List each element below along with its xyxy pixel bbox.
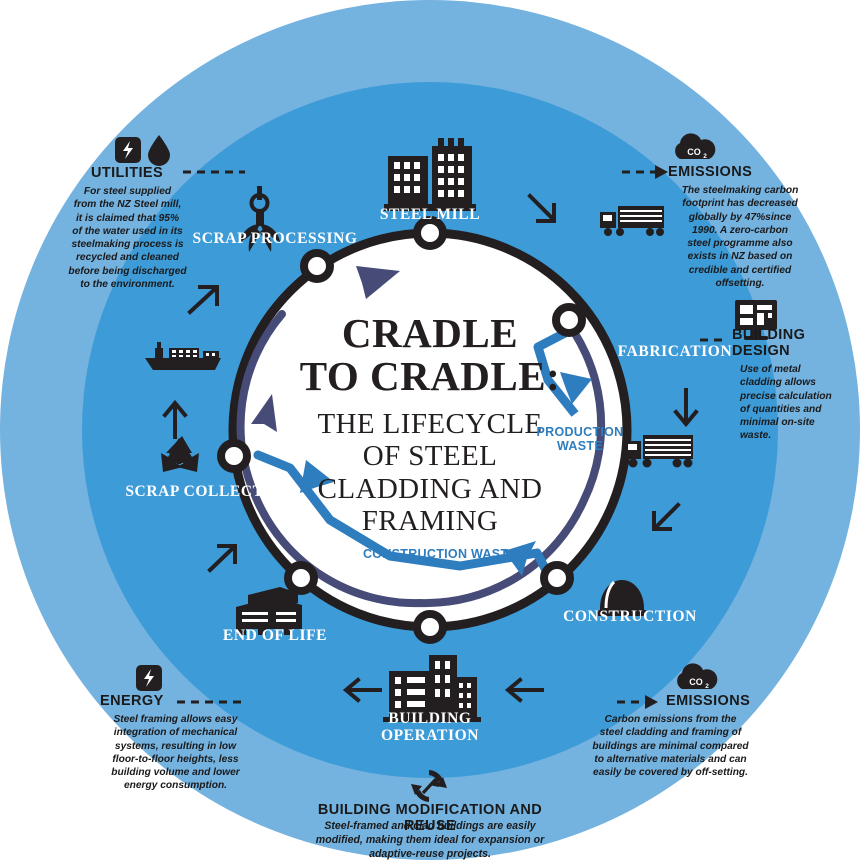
svg-text:2: 2 xyxy=(703,153,707,160)
svg-text:CO: CO xyxy=(689,677,703,687)
cycle-node-building-operation[interactable] xyxy=(417,614,443,640)
subtitle-line-2: OF STEEL xyxy=(268,440,592,472)
title-line-2: TO CRADLE: xyxy=(268,355,592,398)
cycle-node-construction[interactable] xyxy=(544,565,570,591)
energy-bolt-icon xyxy=(115,137,141,163)
infographic-root: CO 2 CO 2 xyxy=(0,0,860,860)
page-title: CRADLE TO CRADLE: THE LIFECYCLE OF STEEL… xyxy=(268,312,592,538)
svg-text:2: 2 xyxy=(705,683,709,690)
cycle-node-end-of-life[interactable] xyxy=(288,565,314,591)
subtitle-line-4: FRAMING xyxy=(268,505,592,537)
cycle-node-scrap-collection[interactable] xyxy=(221,443,247,469)
energy-bolt-icon xyxy=(136,665,162,691)
subtitle-line-3: CLADDING AND xyxy=(268,473,592,505)
title-line-1: CRADLE xyxy=(268,312,592,355)
cycle-node-steel-mill[interactable] xyxy=(417,220,443,246)
subtitle-line-1: THE LIFECYCLE xyxy=(268,408,592,440)
svg-text:CO: CO xyxy=(687,147,701,157)
cycle-node-scrap-processing[interactable] xyxy=(304,253,330,279)
